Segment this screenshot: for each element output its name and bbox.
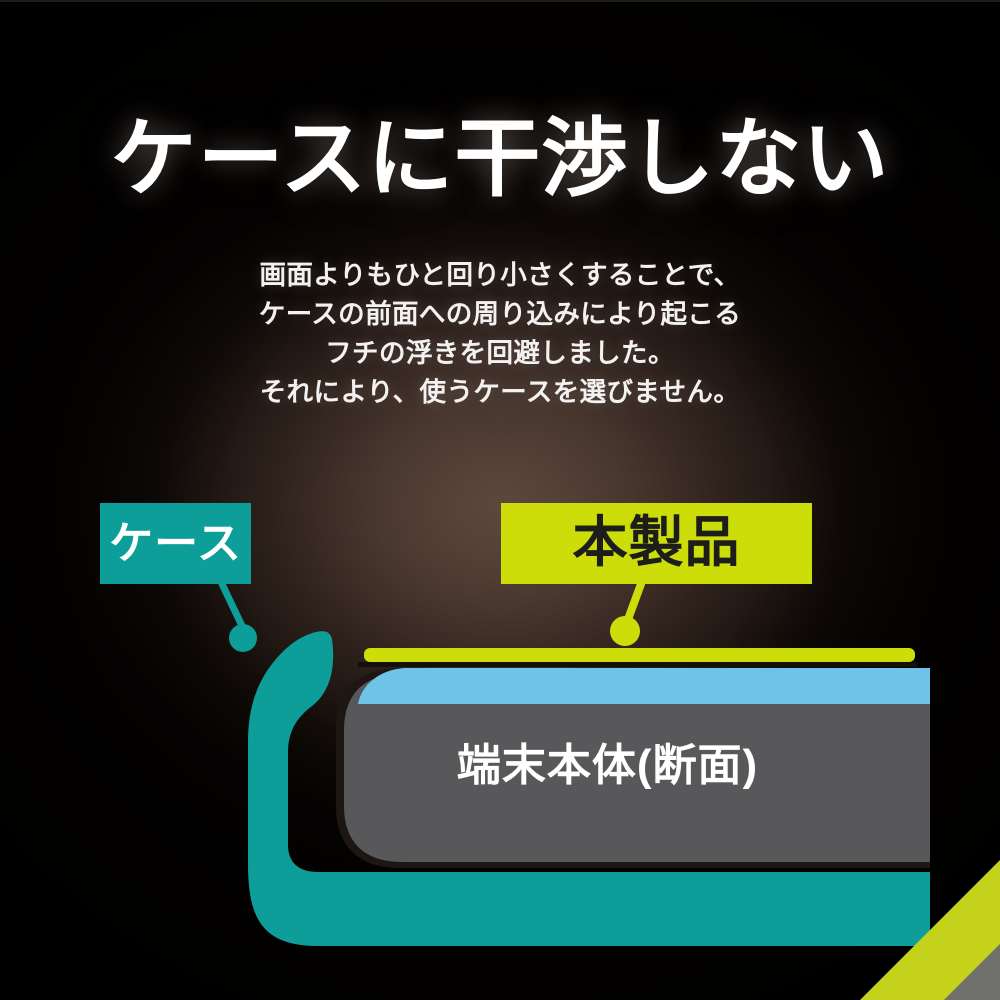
slide-canvas: ケースに干渉しない 画面よりもひと回り小さくすることで、 ケースの前面への周り込… (0, 0, 1000, 1000)
cross-section-diagram (0, 0, 1000, 1000)
product-film-layer (364, 648, 915, 662)
leader-product (610, 584, 641, 646)
screen-layer (358, 668, 930, 704)
leader-case (222, 584, 257, 652)
device-caption: 端末本体(断面) (300, 744, 915, 788)
film-gap (358, 662, 918, 667)
